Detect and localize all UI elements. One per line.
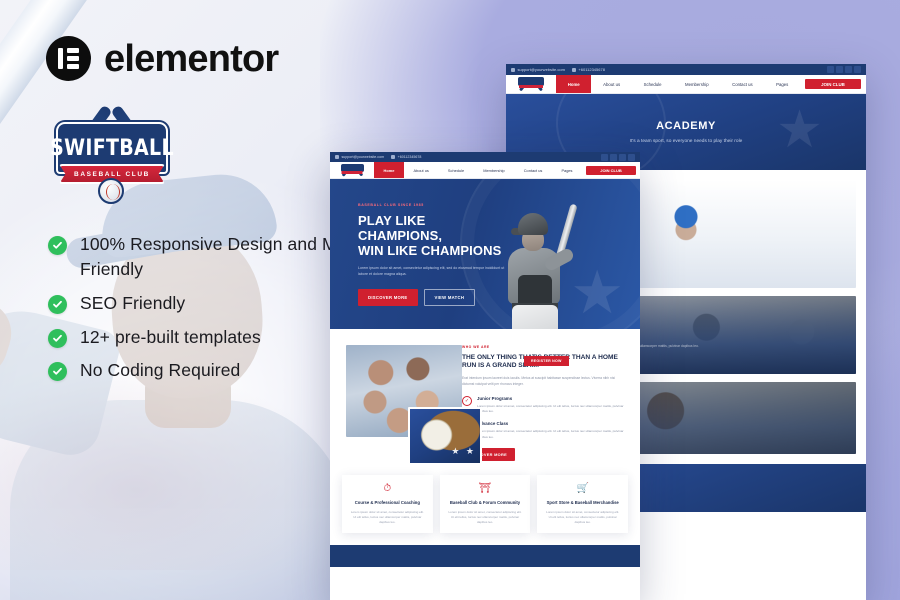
academy-title: ACADEMY xyxy=(576,120,796,132)
about-feature-item: ✓ Advance Class Lorem ipsum dolor sit am… xyxy=(462,421,624,439)
facebook-icon[interactable] xyxy=(827,66,834,73)
nav-item-about-us[interactable]: About us xyxy=(404,162,438,178)
site-topbar: support@yourwebsite.com +60112345678 xyxy=(330,152,640,162)
hero-title-line-1: PLAY LIKE CHAMPIONS, xyxy=(358,214,505,244)
topbar-phone-text: +60112345678 xyxy=(398,155,422,159)
swiftball-nav-logo[interactable] xyxy=(506,75,556,93)
academy-subtitle: It's a team sport, so everyone needs to … xyxy=(576,138,796,145)
service-card-text: Lorem ipsum dolor sit amet, consectetur … xyxy=(447,510,524,524)
stopwatch-icon: ⏱ xyxy=(383,484,391,494)
check-circle-icon xyxy=(48,295,67,314)
topbar-phone[interactable]: +60112345678 xyxy=(572,67,605,72)
facebook-icon[interactable] xyxy=(601,154,608,161)
service-card-text: Lorem ipsum dolor sit amet, consectetur … xyxy=(349,510,426,524)
instagram-icon[interactable] xyxy=(836,66,843,73)
join-club-button[interactable]: JOIN CLUB xyxy=(805,79,861,89)
feature-item: No Coding Required xyxy=(48,358,378,383)
feature-label: No Coding Required xyxy=(80,358,240,383)
topbar-email-text: support@yourwebsite.com xyxy=(518,67,565,72)
feature-item: 12+ pre-built templates xyxy=(48,325,378,350)
promo-stage: elementor SWIFTBALL BASEBALL CLUB 100% R… xyxy=(0,0,900,600)
youtube-icon[interactable] xyxy=(628,154,635,161)
service-card-text: Lorem ipsum dolor sit amet, consectetur … xyxy=(544,510,621,524)
topbar-phone[interactable]: +60112345678 xyxy=(391,155,421,159)
about-feature-item: ✓ Junior Programs Lorem ipsum dolor sit … xyxy=(462,396,624,414)
check-circle-icon xyxy=(48,329,67,348)
elementor-wordmark: elementor xyxy=(104,40,278,78)
baseball-batter-photo xyxy=(496,213,606,329)
service-card-title: Baseball Club & Forum Community xyxy=(450,500,520,505)
about-feature-title: Advance Class xyxy=(477,421,624,426)
join-club-button[interactable]: JOIN CLUB xyxy=(586,166,636,175)
footer-band xyxy=(330,545,640,567)
check-circle-icon xyxy=(48,236,67,255)
feature-item: 100% Responsive Design and Mobile Friend… xyxy=(48,232,378,282)
feature-label: 12+ pre-built templates xyxy=(80,325,261,350)
program-text: Lorem ipsum dolor sit amet, consectetur … xyxy=(524,344,848,349)
elementor-brand: elementor xyxy=(46,36,376,81)
about-paragraph: Erat interdum ipsum laoreet duis iaculis… xyxy=(462,376,624,387)
youtube-icon[interactable] xyxy=(854,66,861,73)
discover-more-button[interactable]: DISCOVER MORE xyxy=(358,289,418,306)
about-feature-text: Lorem ipsum dolor sit amet, consectetur … xyxy=(477,404,624,414)
nav-item-home[interactable]: Home xyxy=(556,75,591,93)
view-match-button[interactable]: VIEW MATCH xyxy=(424,289,476,306)
topbar-phone-text: +60112345678 xyxy=(578,67,605,72)
nav-menu[interactable]: Home About us Schedule Membership Contac… xyxy=(374,162,582,178)
check-circle-icon xyxy=(48,362,67,381)
about-feature-text: Lorem ipsum dolor sit amet, consectetur … xyxy=(477,429,624,439)
feature-item: SEO Friendly xyxy=(48,291,378,316)
swiftball-logo-tagline: BASEBALL CLUB xyxy=(74,171,150,178)
mail-icon xyxy=(335,155,339,159)
swiftball-logo-name: SWIFTBALL xyxy=(50,135,174,160)
services-section: ⏱ Course & Professional Coaching Lorem i… xyxy=(330,461,640,534)
register-now-button[interactable]: REGISTER NOW xyxy=(524,356,569,366)
topbar-email-text: support@yourwebsite.com xyxy=(342,155,385,159)
topbar-socials[interactable] xyxy=(827,66,861,73)
service-card-title: Course & Professional Coaching xyxy=(355,500,420,505)
about-feature-title: Junior Programs xyxy=(477,396,624,401)
mail-icon xyxy=(511,68,515,72)
nav-item-membership[interactable]: Membership xyxy=(474,162,515,178)
hero-title-line-2: WIN LIKE CHAMPIONS xyxy=(358,244,505,259)
nav-item-home[interactable]: Home xyxy=(374,162,404,178)
topbar-socials[interactable] xyxy=(601,154,635,161)
nav-item-schedule[interactable]: Schedule xyxy=(632,75,673,93)
baseball-icon xyxy=(98,178,124,204)
glove-ball-flag-photo xyxy=(408,407,482,465)
phone-icon xyxy=(391,155,395,159)
topbar-email[interactable]: support@yourwebsite.com xyxy=(511,67,565,72)
home-hero: ★ BASEBALL CLUB SINCE 1985 PLAY LIKE CHA… xyxy=(330,179,640,329)
home-page-mockup[interactable]: support@yourwebsite.com +60112345678 xyxy=(330,152,640,600)
service-card-title: Sport Store & Baseball Merchandise xyxy=(547,500,619,505)
twitter-icon[interactable] xyxy=(845,66,852,73)
hero-paragraph: Lorem ipsum dolor sit amet, consectetur … xyxy=(358,266,508,278)
site-navbar[interactable]: Home About us Schedule Membership Contac… xyxy=(330,162,640,179)
nav-item-pages[interactable]: Pages xyxy=(764,75,800,93)
twitter-icon[interactable] xyxy=(619,154,626,161)
service-card[interactable]: ⛩ Baseball Club & Forum Community Lorem … xyxy=(440,475,531,534)
nav-item-membership[interactable]: Membership xyxy=(673,75,720,93)
program-title: Teenager Program xyxy=(524,335,848,341)
instagram-icon[interactable] xyxy=(610,154,617,161)
elementor-logo-icon xyxy=(46,36,91,81)
site-topbar: support@yourwebsite.com +60112345678 xyxy=(506,64,866,75)
shopping-cart-icon: 🛒 xyxy=(576,484,588,494)
nav-item-contact-us[interactable]: Contact us xyxy=(720,75,764,93)
promo-left-panel: elementor SWIFTBALL BASEBALL CLUB 100% R… xyxy=(46,36,376,81)
site-navbar[interactable]: Home About us Schedule Membership Contac… xyxy=(506,75,866,94)
nav-item-about-us[interactable]: About us xyxy=(591,75,631,93)
nav-item-pages[interactable]: Pages xyxy=(552,162,582,178)
swiftball-baseball-logo: SWIFTBALL BASEBALL CLUB xyxy=(50,112,174,208)
feature-list: 100% Responsive Design and Mobile Friend… xyxy=(48,232,378,392)
swiftball-nav-logo[interactable] xyxy=(330,162,374,178)
phone-icon xyxy=(572,68,576,72)
service-card[interactable]: 🛒 Sport Store & Baseball Merchandise Lor… xyxy=(537,475,628,534)
stadium-icon: ⛩ xyxy=(479,484,492,494)
nav-item-contact-us[interactable]: Contact us xyxy=(514,162,552,178)
feature-label: SEO Friendly xyxy=(80,291,185,316)
service-card[interactable]: ⏱ Course & Professional Coaching Lorem i… xyxy=(342,475,433,534)
nav-menu[interactable]: Home About us Schedule Membership Contac… xyxy=(556,75,800,93)
hero-eyebrow: BASEBALL CLUB SINCE 1985 xyxy=(358,203,505,207)
topbar-email[interactable]: support@yourwebsite.com xyxy=(335,155,384,159)
check-ring-icon: ✓ xyxy=(462,396,472,406)
nav-item-schedule[interactable]: Schedule xyxy=(438,162,473,178)
